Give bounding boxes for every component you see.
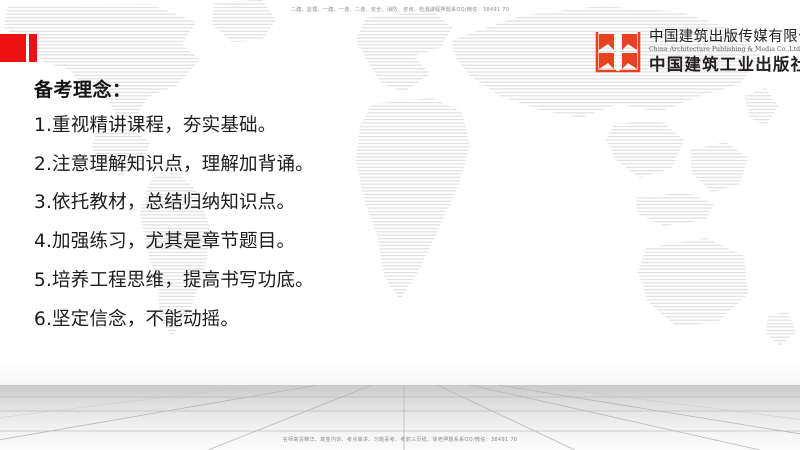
- watermark-top: 二建、监理、一建、一造、二造、安全、消防、咨询、检测课程押题系QQ/微信：384…: [0, 6, 800, 13]
- open-book-logo-icon: [594, 27, 642, 76]
- wall-shadow: [0, 358, 800, 385]
- list-item: 3.依托教材，总结归纳知识点。: [34, 192, 464, 213]
- publisher-logo-text: 中国建筑出版传媒有限公司 China Architecture Publishi…: [649, 30, 800, 73]
- list-item: 1.重视精讲课程，夯实基础。: [34, 115, 464, 136]
- list-item: 2.注意理解知识点，理解加背诵。: [34, 154, 464, 175]
- publisher-press-cn: 中国建筑工业出版社: [649, 57, 800, 74]
- accent-bar-large: [0, 34, 26, 62]
- publisher-company-cn: 中国建筑出版传媒有限公司: [649, 30, 800, 45]
- list-item: 4.加强练习，尤其是章节题目。: [34, 231, 464, 252]
- list-item: 6.坚定信念，不能动摇。: [34, 309, 464, 330]
- page-title: 备考理念：: [34, 80, 464, 101]
- slide-content: 备考理念： 1.重视精讲课程，夯实基础。 2.注意理解知识点，理解加背诵。 3.…: [34, 80, 464, 347]
- presentation-slide: 二建、监理、一建、一造、二造、安全、消防、咨询、检测课程押题系QQ/微信：384…: [0, 0, 800, 450]
- publisher-logo: 中国建筑出版传媒有限公司 China Architecture Publishi…: [594, 27, 800, 76]
- bullet-list: 1.重视精讲课程，夯实基础。 2.注意理解知识点，理解加背诵。 3.依托教材，总…: [34, 115, 464, 330]
- publisher-company-en: China Architecture Publishing & Media Co…: [649, 47, 800, 53]
- accent-bar-small: [29, 34, 37, 62]
- list-item: 5.培养工程思维，提高书写功底。: [34, 270, 464, 291]
- watermark-bottom: 名师高清精华、真金内训、考点串讲、习题喜考、考前三页纸、徐老押题系系QQ/微信：…: [0, 436, 800, 443]
